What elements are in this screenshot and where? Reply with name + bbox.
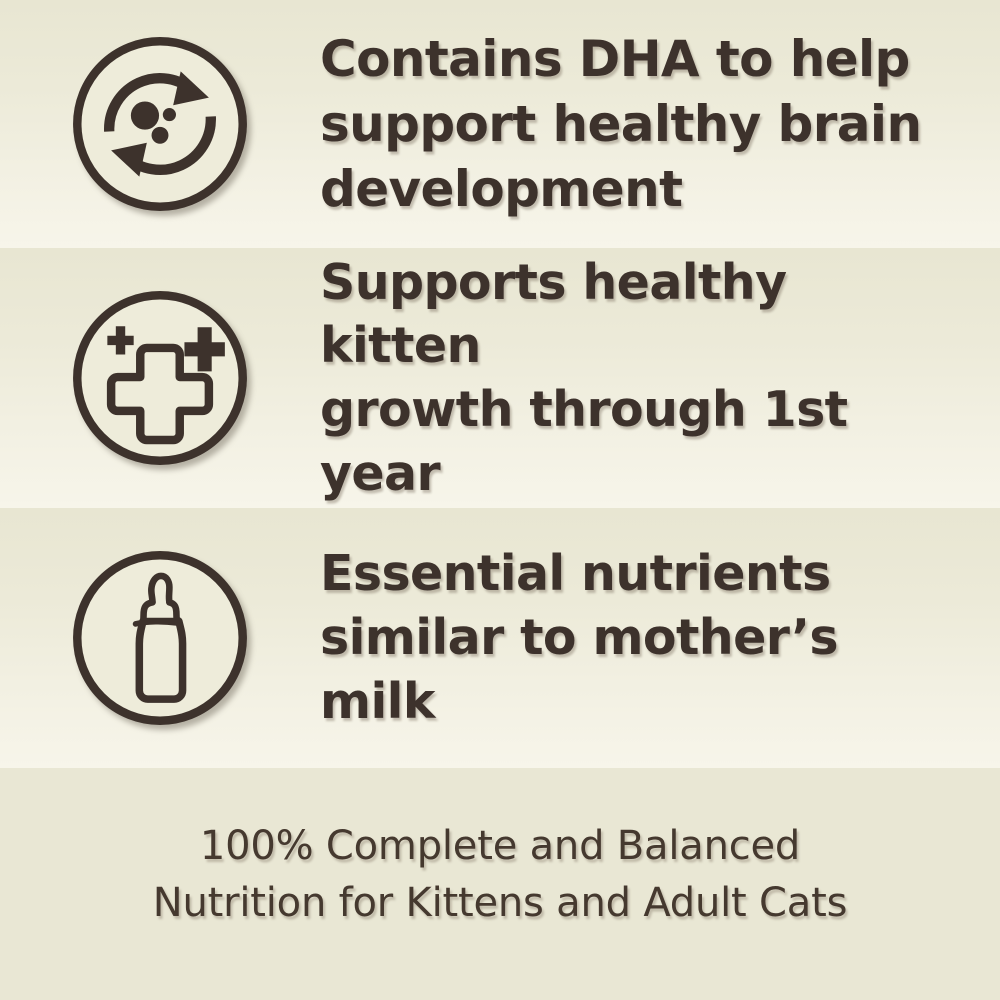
benefit-line: similar to mother’s milk [320, 609, 838, 730]
benefit-icon-cell [0, 284, 320, 472]
benefit-row-nutrients: Essential nutrients similar to mother’s … [0, 508, 1000, 768]
benefit-text-growth: Supports healthy kitten growth through 1… [320, 251, 956, 506]
footer-line: Nutrition for Kittens and Adult Cats [153, 875, 847, 932]
benefit-row-dha: Contains DHA to help support healthy bra… [0, 0, 1000, 248]
benefit-text-cell: Supports healthy kitten growth through 1… [320, 251, 1000, 506]
benefit-line: Supports healthy kitten [320, 254, 786, 375]
benefit-line: Contains DHA to help [320, 30, 910, 88]
benefit-text-cell: Essential nutrients similar to mother’s … [320, 542, 1000, 733]
footer-claim-text: 100% Complete and Balanced Nutrition for… [153, 818, 847, 950]
benefit-text-cell: Contains DHA to help support healthy bra… [320, 27, 1000, 222]
baby-bottle-icon [66, 544, 254, 732]
benefit-line: support healthy brain [320, 95, 921, 153]
benefit-text-dha: Contains DHA to help support healthy bra… [320, 27, 956, 222]
benefits-panel: Contains DHA to help support healthy bra… [0, 0, 1000, 1000]
benefit-text-nutrients: Essential nutrients similar to mother’s … [320, 542, 956, 733]
benefit-row-growth: Supports healthy kitten growth through 1… [0, 248, 1000, 508]
benefit-line: Essential nutrients [320, 545, 831, 602]
benefit-icon-cell [0, 544, 320, 732]
benefit-line: development [320, 160, 682, 218]
benefit-icon-cell [0, 30, 320, 218]
benefit-line: growth through 1st year [320, 381, 847, 502]
plus-signs-growth-icon [66, 284, 254, 472]
footer-line: 100% Complete and Balanced [153, 818, 847, 875]
footer-claim-band: 100% Complete and Balanced Nutrition for… [0, 768, 1000, 1000]
cycle-arrows-dha-icon [66, 30, 254, 218]
